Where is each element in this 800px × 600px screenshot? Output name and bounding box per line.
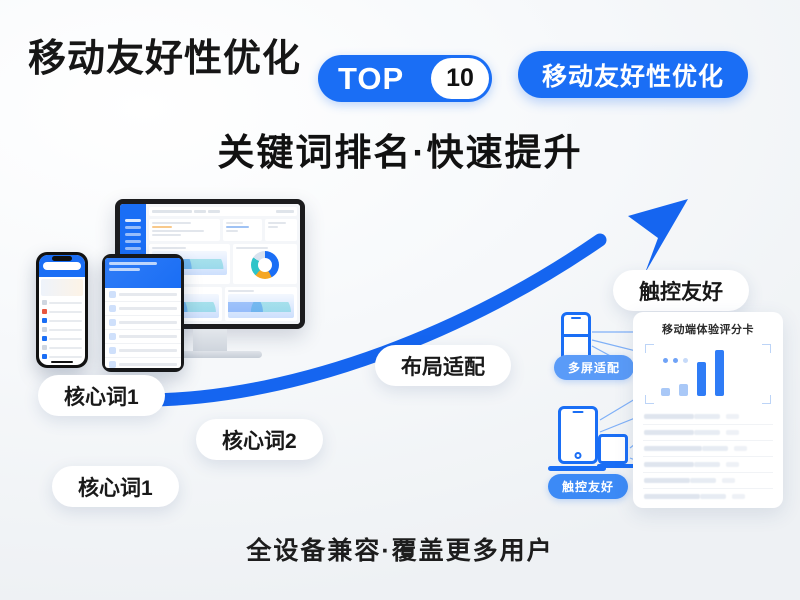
table-row bbox=[643, 441, 773, 457]
phone-promo-card bbox=[41, 279, 83, 296]
phone-notch bbox=[52, 256, 72, 261]
top-badge-number: 10 bbox=[431, 58, 489, 99]
illustration-stand-bar bbox=[548, 466, 606, 471]
phone-screen bbox=[36, 252, 88, 368]
score-card: 移动端体验评分卡 bbox=[633, 312, 783, 508]
table-row bbox=[643, 457, 773, 473]
top-rank-badge: TOP 10 bbox=[318, 55, 492, 102]
phone-home-indicator bbox=[51, 361, 73, 363]
score-card-title: 移动端体验评分卡 bbox=[643, 321, 773, 337]
top-badge-word: TOP bbox=[338, 61, 404, 97]
poster-canvas: 移动友好性优化 TOP 10 移动友好性优化 关键词排名·快速提升 bbox=[0, 0, 800, 600]
score-card-table bbox=[643, 409, 773, 504]
mini-pill-touch[interactable]: 触控友好 bbox=[548, 474, 628, 499]
page-title: 移动友好性优化 bbox=[28, 27, 301, 82]
dashboard-topbar bbox=[149, 207, 297, 216]
chart-bars bbox=[661, 348, 755, 396]
score-card-chart bbox=[645, 344, 771, 404]
tablet-screen bbox=[102, 254, 184, 372]
illustration-laptop-icon bbox=[598, 434, 628, 464]
table-row bbox=[643, 409, 773, 425]
tablet-header-banner bbox=[105, 258, 181, 288]
feature-pill-layout[interactable]: 布局适配 bbox=[375, 345, 511, 386]
keyword-pill-2[interactable]: 核心词2 bbox=[196, 419, 323, 460]
phone-mockup bbox=[36, 252, 88, 368]
device-network-illustration: 多屏适配 触控友好 移动端体验评分卡 bbox=[540, 300, 790, 515]
monitor-neck bbox=[193, 329, 227, 351]
donut-chart bbox=[233, 244, 297, 284]
phone-search-box bbox=[43, 262, 81, 270]
mini-pill-multiscreen[interactable]: 多屏适配 bbox=[554, 355, 634, 380]
table-row bbox=[643, 489, 773, 504]
tablet-mockup bbox=[102, 254, 184, 372]
table-row bbox=[643, 473, 773, 489]
keyword-pill-1[interactable]: 核心词1 bbox=[38, 375, 165, 416]
page-subtitle: 关键词排名·快速提升 bbox=[0, 122, 800, 176]
keyword-pill-3[interactable]: 核心词1 bbox=[52, 466, 179, 507]
illustration-tablet-icon bbox=[558, 406, 598, 464]
table-row bbox=[643, 425, 773, 441]
footer-caption: 全设备兼容·覆盖更多用户 bbox=[0, 531, 800, 567]
header-blue-pill: 移动友好性优化 bbox=[518, 51, 748, 98]
